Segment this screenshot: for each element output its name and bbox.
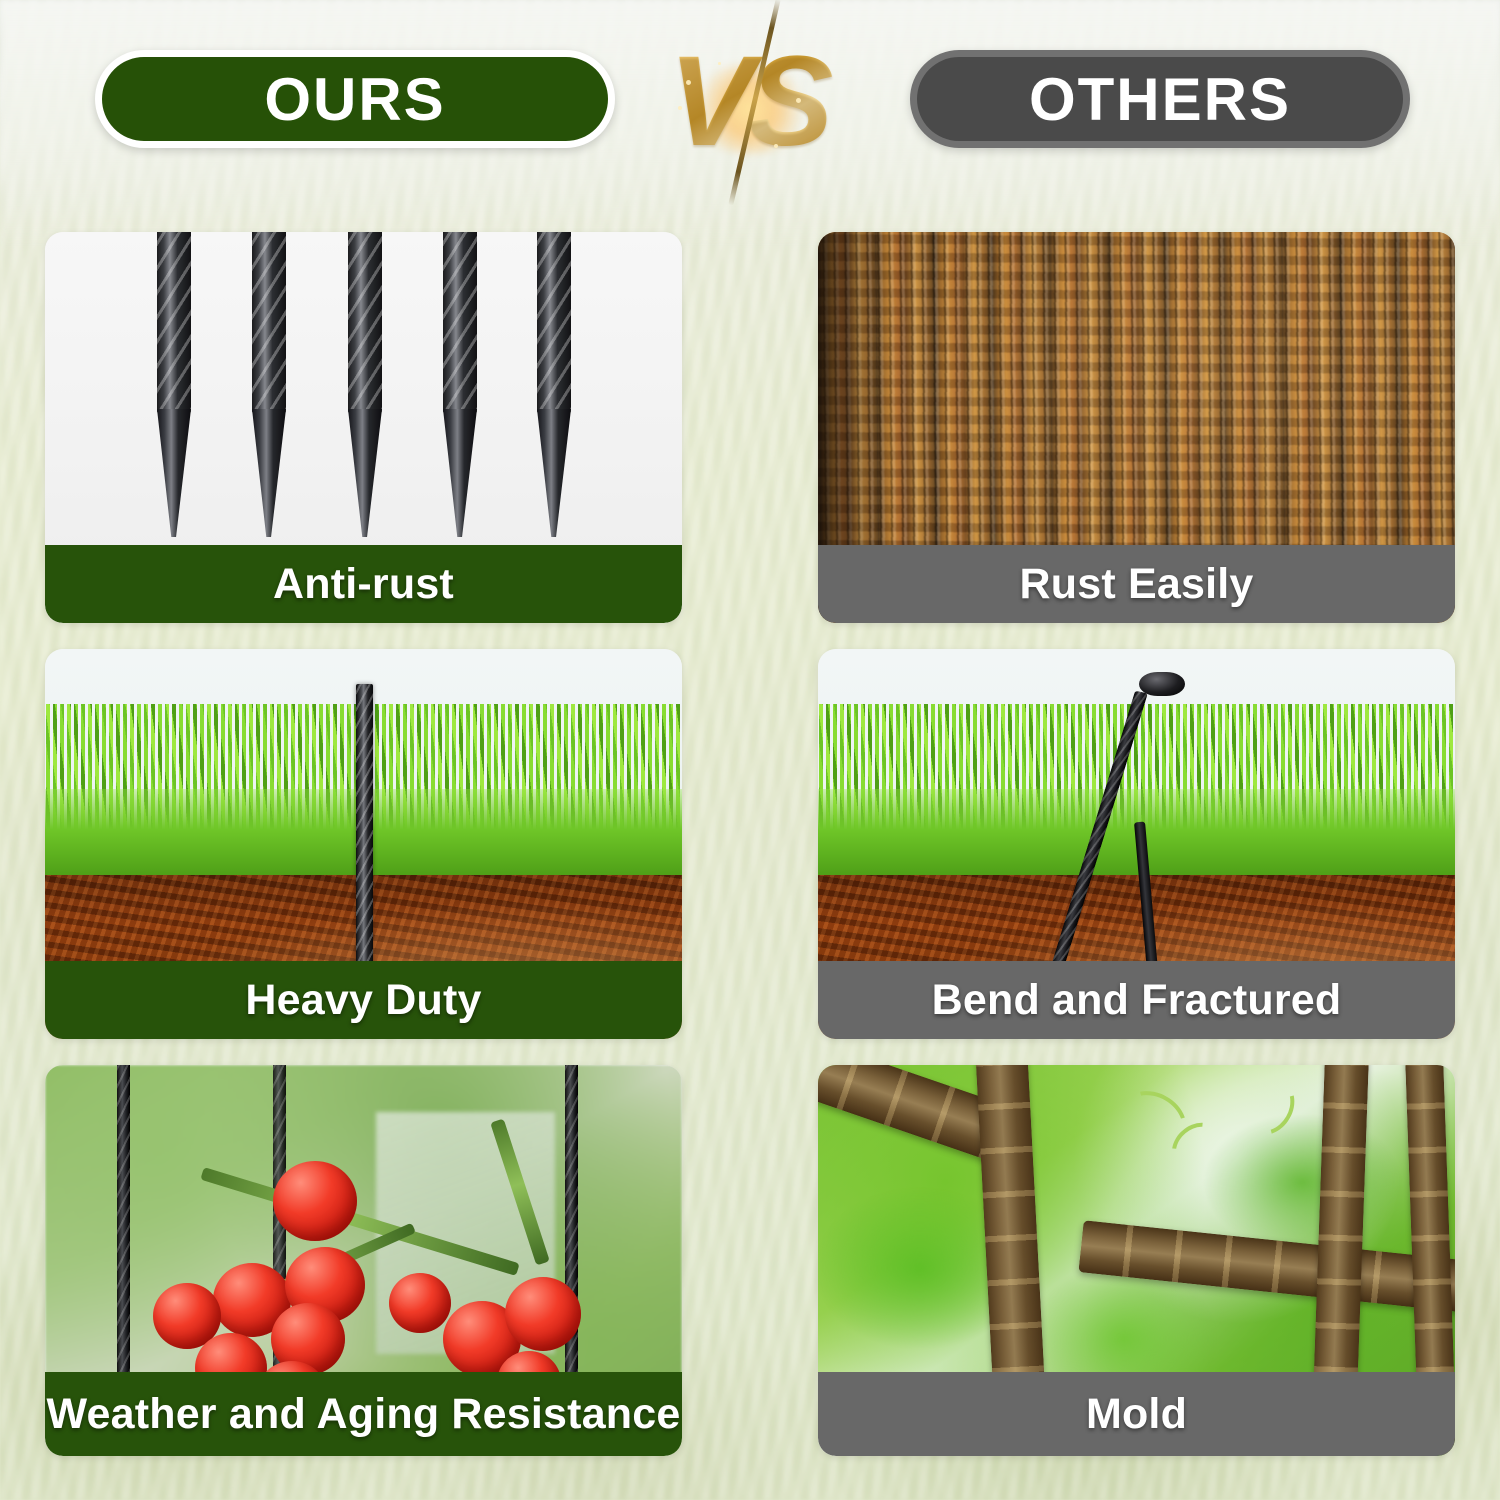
comparison-row: Anti-rust Rust Easily [45, 232, 1455, 623]
spark-icon [686, 80, 691, 85]
others-header-label: OTHERS [1029, 65, 1291, 134]
comparison-row: Weather and Aging Resistance Mold [45, 1065, 1455, 1456]
comparison-header: OURS VS OTHERS [0, 0, 1500, 208]
ours-card-anti-rust: Anti-rust [45, 232, 682, 623]
card-caption: Mold [818, 1372, 1455, 1456]
spark-icon [796, 98, 801, 103]
card-caption: Anti-rust [45, 545, 682, 623]
card-caption: Weather and Aging Resistance [45, 1372, 682, 1456]
card-caption: Rust Easily [818, 545, 1455, 623]
ours-header-label: OURS [264, 65, 445, 134]
ours-card-weather-aging: Weather and Aging Resistance [45, 1065, 682, 1456]
card-caption: Heavy Duty [45, 961, 682, 1039]
spark-icon [678, 106, 682, 110]
others-header-pill: OTHERS [910, 50, 1410, 148]
comparison-row: Heavy Duty Bend and Fractured [45, 649, 1455, 1039]
ours-card-heavy-duty: Heavy Duty [45, 649, 682, 1039]
spark-icon [774, 144, 778, 148]
comparison-grid: Anti-rust Rust Easily Heavy Duty [45, 232, 1455, 1482]
others-card-bend-fractured: Bend and Fractured [818, 649, 1455, 1039]
others-card-rust-easily: Rust Easily [818, 232, 1455, 623]
vs-badge: VS [648, 2, 848, 207]
spark-icon [718, 62, 721, 65]
card-caption: Bend and Fractured [818, 961, 1455, 1039]
ours-header-pill: OURS [95, 50, 615, 148]
vs-label: VS [648, 2, 848, 207]
black-stake-icon [356, 684, 373, 1004]
bent-nail-icon [1117, 672, 1187, 1007]
others-card-mold: Mold [818, 1065, 1455, 1456]
